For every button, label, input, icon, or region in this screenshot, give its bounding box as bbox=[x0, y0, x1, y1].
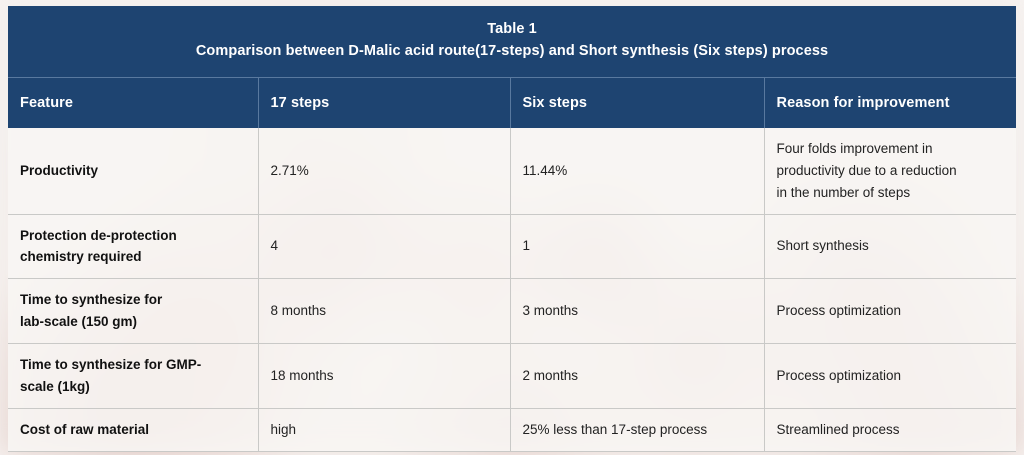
feature-line: Time to synthesize for bbox=[20, 289, 246, 311]
column-header-six-steps: Six steps bbox=[510, 77, 764, 128]
column-header-reason: Reason for improvement bbox=[764, 77, 1016, 128]
row-reason-raw-material-cost: Streamlined process bbox=[764, 408, 1016, 451]
row-17steps-lab-scale-time: 8 months bbox=[258, 279, 510, 344]
feature-line: lab-scale (150 gm) bbox=[20, 311, 246, 333]
feature-line: scale (1kg) bbox=[20, 376, 246, 398]
row-17steps-protection-chemistry: 4 bbox=[258, 214, 510, 279]
table-row: Time to synthesize for GMP- scale (1kg) … bbox=[8, 343, 1016, 408]
row-17steps-gmp-scale-time: 18 months bbox=[258, 343, 510, 408]
table-title-head: Table 1 Comparison between D-Malic acid … bbox=[8, 6, 1016, 77]
column-header-17-steps: 17 steps bbox=[258, 77, 510, 128]
table-row: Protection de-protection chemistry requi… bbox=[8, 214, 1016, 279]
row-feature-protection-chemistry: Protection de-protection chemistry requi… bbox=[8, 214, 258, 279]
row-17steps-raw-material-cost: high bbox=[258, 408, 510, 451]
row-reason-protection-chemistry: Short synthesis bbox=[764, 214, 1016, 279]
feature-line: Time to synthesize for GMP- bbox=[20, 354, 246, 376]
row-reason-gmp-scale-time: Process optimization bbox=[764, 343, 1016, 408]
table-number-label: Table 1 bbox=[20, 18, 1004, 40]
column-header-feature: Feature bbox=[8, 77, 258, 128]
reason-line: Four folds improvement in bbox=[777, 138, 1005, 160]
table-row: Time to synthesize for lab-scale (150 gm… bbox=[8, 279, 1016, 344]
row-sixsteps-gmp-scale-time: 2 months bbox=[510, 343, 764, 408]
row-sixsteps-lab-scale-time: 3 months bbox=[510, 279, 764, 344]
row-17steps-productivity: 2.71% bbox=[258, 128, 510, 214]
reason-line: productivity due to a reduction bbox=[777, 160, 1005, 182]
row-reason-productivity: Four folds improvement in productivity d… bbox=[764, 128, 1016, 214]
table-title-row: Table 1 Comparison between D-Malic acid … bbox=[8, 6, 1016, 77]
table-title-cell: Table 1 Comparison between D-Malic acid … bbox=[8, 6, 1016, 77]
row-feature-lab-scale-time: Time to synthesize for lab-scale (150 gm… bbox=[8, 279, 258, 344]
feature-line: Protection de-protection bbox=[20, 225, 246, 247]
reason-line: in the number of steps bbox=[777, 182, 1005, 204]
table-container: Table 1 Comparison between D-Malic acid … bbox=[8, 6, 1016, 452]
feature-line: chemistry required bbox=[20, 246, 246, 268]
column-header-row: Feature 17 steps Six steps Reason for im… bbox=[8, 77, 1016, 128]
row-reason-lab-scale-time: Process optimization bbox=[764, 279, 1016, 344]
table-caption: Comparison between D-Malic acid route(17… bbox=[20, 40, 1004, 62]
row-sixsteps-protection-chemistry: 1 bbox=[510, 214, 764, 279]
row-feature-raw-material-cost: Cost of raw material bbox=[8, 408, 258, 451]
row-sixsteps-raw-material-cost: 25% less than 17-step process bbox=[510, 408, 764, 451]
comparison-table: Table 1 Comparison between D-Malic acid … bbox=[8, 6, 1016, 452]
row-feature-gmp-scale-time: Time to synthesize for GMP- scale (1kg) bbox=[8, 343, 258, 408]
row-feature-productivity: Productivity bbox=[8, 128, 258, 214]
table-column-header: Feature 17 steps Six steps Reason for im… bbox=[8, 77, 1016, 128]
row-sixsteps-productivity: 11.44% bbox=[510, 128, 764, 214]
table-body: Productivity 2.71% 11.44% Four folds imp… bbox=[8, 128, 1016, 451]
table-row: Productivity 2.71% 11.44% Four folds imp… bbox=[8, 128, 1016, 214]
table-row: Cost of raw material high 25% less than … bbox=[8, 408, 1016, 451]
